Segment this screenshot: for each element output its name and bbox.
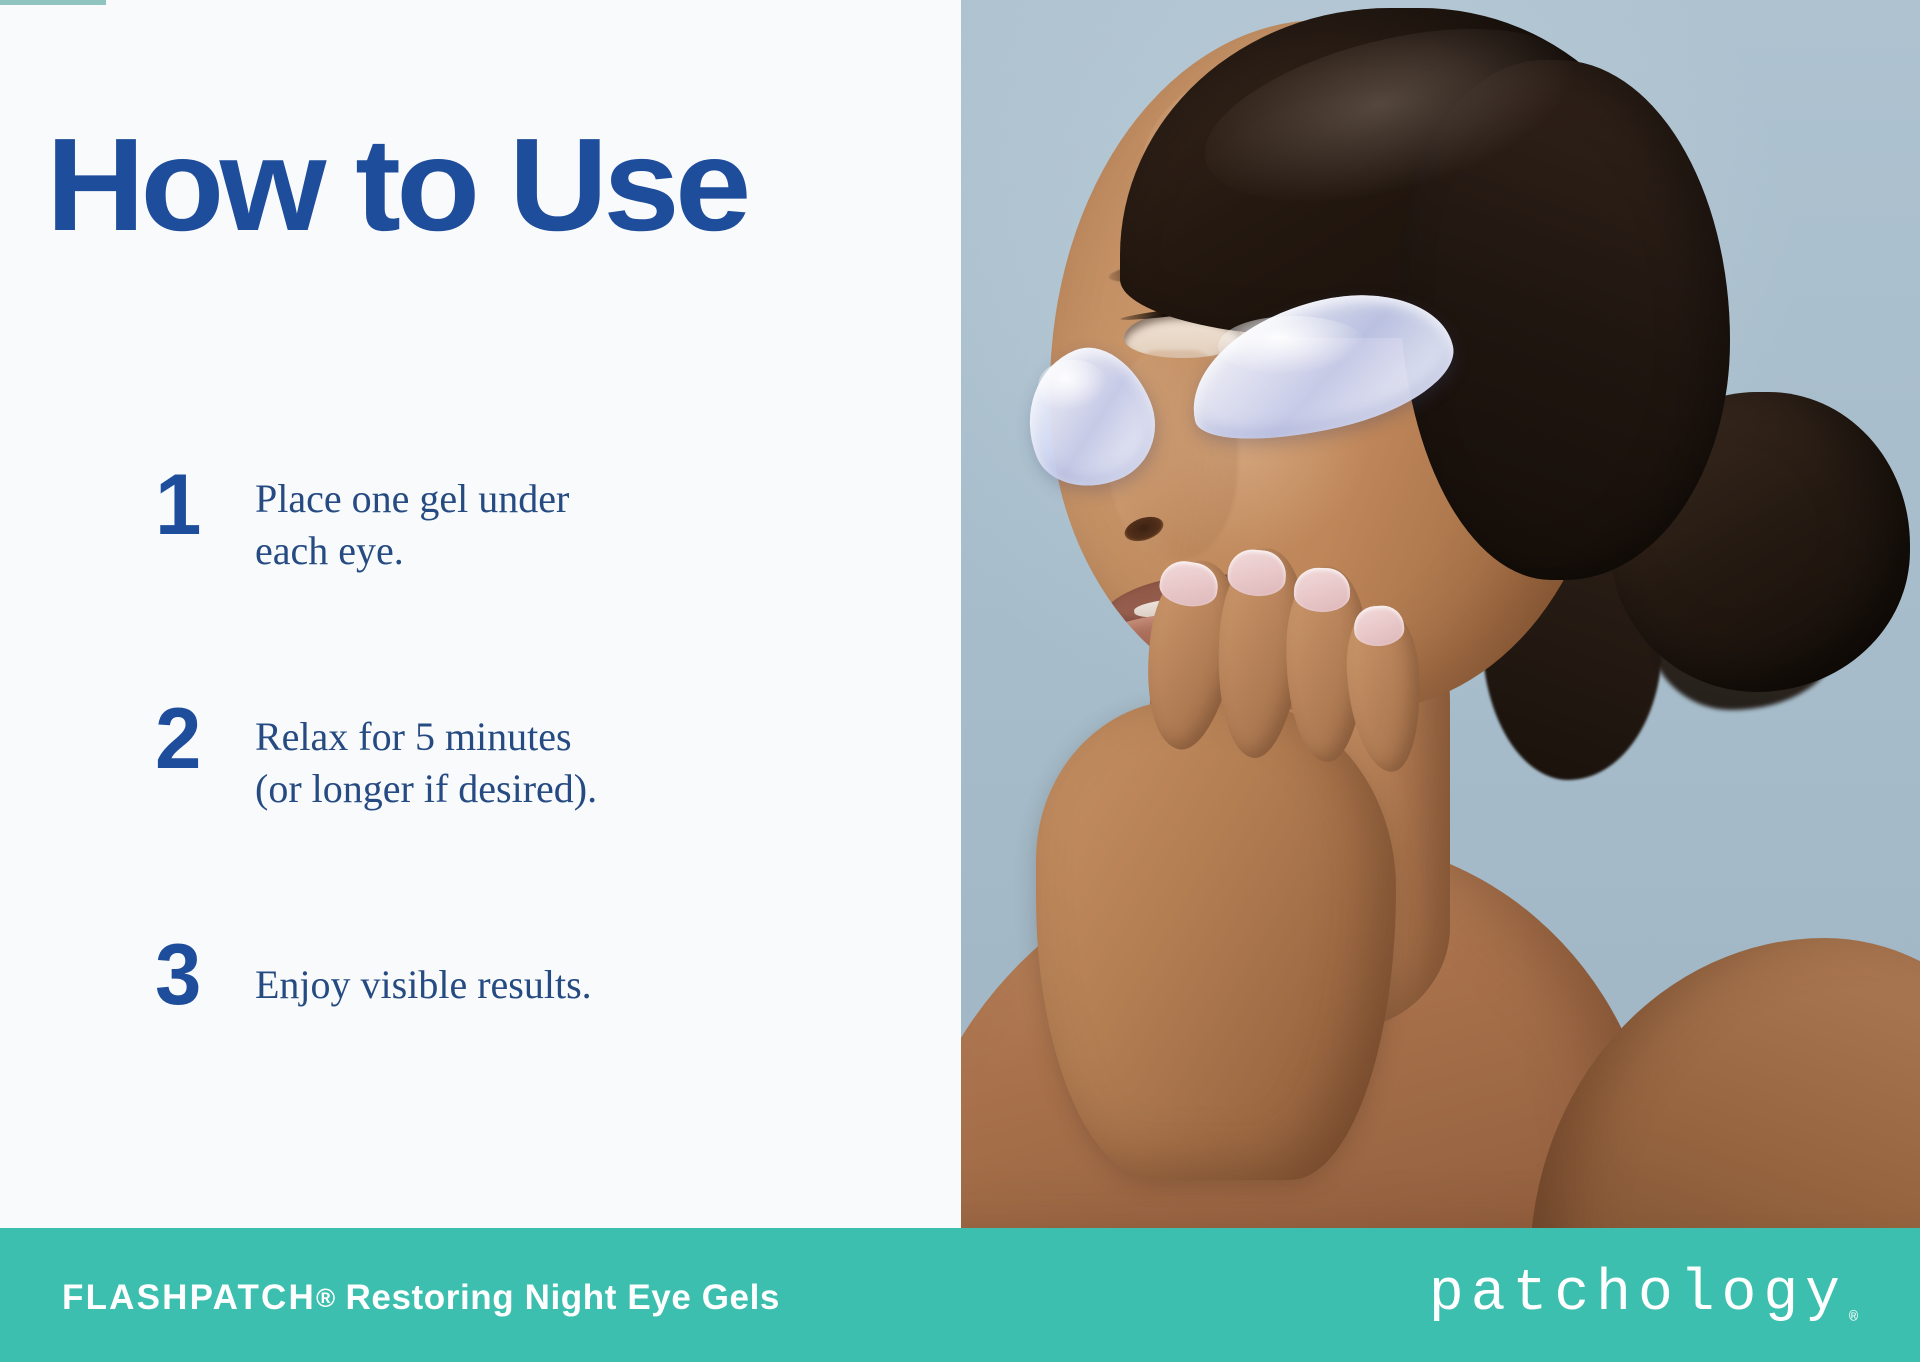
step-number: 3 <box>155 935 252 1017</box>
step-text: Relax for 5 minutes (or longer if desire… <box>255 699 855 815</box>
brand-registered-mark: ® <box>1849 1309 1858 1326</box>
eye-glint-near <box>1114 32 1123 41</box>
step-text-line: (or longer if desired). <box>255 763 855 815</box>
step-item: 2 Relax for 5 minutes (or longer if desi… <box>155 699 855 815</box>
step-text-line: each eye. <box>255 525 855 577</box>
hand <box>1036 700 1396 1180</box>
product-name: FLASHPATCH® Restoring Night Eye Gels <box>62 1278 780 1318</box>
fingernail <box>1294 568 1351 613</box>
page-title: How to Use <box>46 119 747 251</box>
product-brandmark: FLASHPATCH <box>62 1278 316 1317</box>
step-item: 3 Enjoy visible results. <box>155 935 855 1017</box>
model-figure <box>961 0 1920 1228</box>
step-text-line: Enjoy visible results. <box>255 959 855 1011</box>
step-text-line: Relax for 5 minutes <box>255 711 855 763</box>
top-accent-strip <box>0 0 106 5</box>
instructions-panel: How to Use 1 Place one gel under each ey… <box>0 0 961 1228</box>
brand-logo: patchology® <box>1429 1262 1858 1327</box>
step-number: 1 <box>155 465 252 547</box>
eye-glint-far <box>1094 32 1102 40</box>
brand-logo-text: patchology <box>1429 1262 1847 1327</box>
step-number: 2 <box>155 699 252 781</box>
steps-list: 1 Place one gel under each eye. 2 Relax … <box>155 465 855 1017</box>
poster: How to Use 1 Place one gel under each ey… <box>0 0 1920 1362</box>
step-text: Enjoy visible results. <box>255 935 855 1011</box>
step-text: Place one gel under each eye. <box>255 465 855 577</box>
product-name-rest: Restoring Night Eye Gels <box>335 1278 780 1317</box>
registered-mark: ® <box>316 1283 335 1313</box>
footer-bar: FLASHPATCH® Restoring Night Eye Gels pat… <box>0 1228 1920 1362</box>
eye-patch-sheen-far <box>1038 360 1108 412</box>
eye-patch-sheen-near <box>1218 316 1368 376</box>
step-item: 1 Place one gel under each eye. <box>155 465 855 577</box>
step-text-line: Place one gel under <box>255 473 855 525</box>
